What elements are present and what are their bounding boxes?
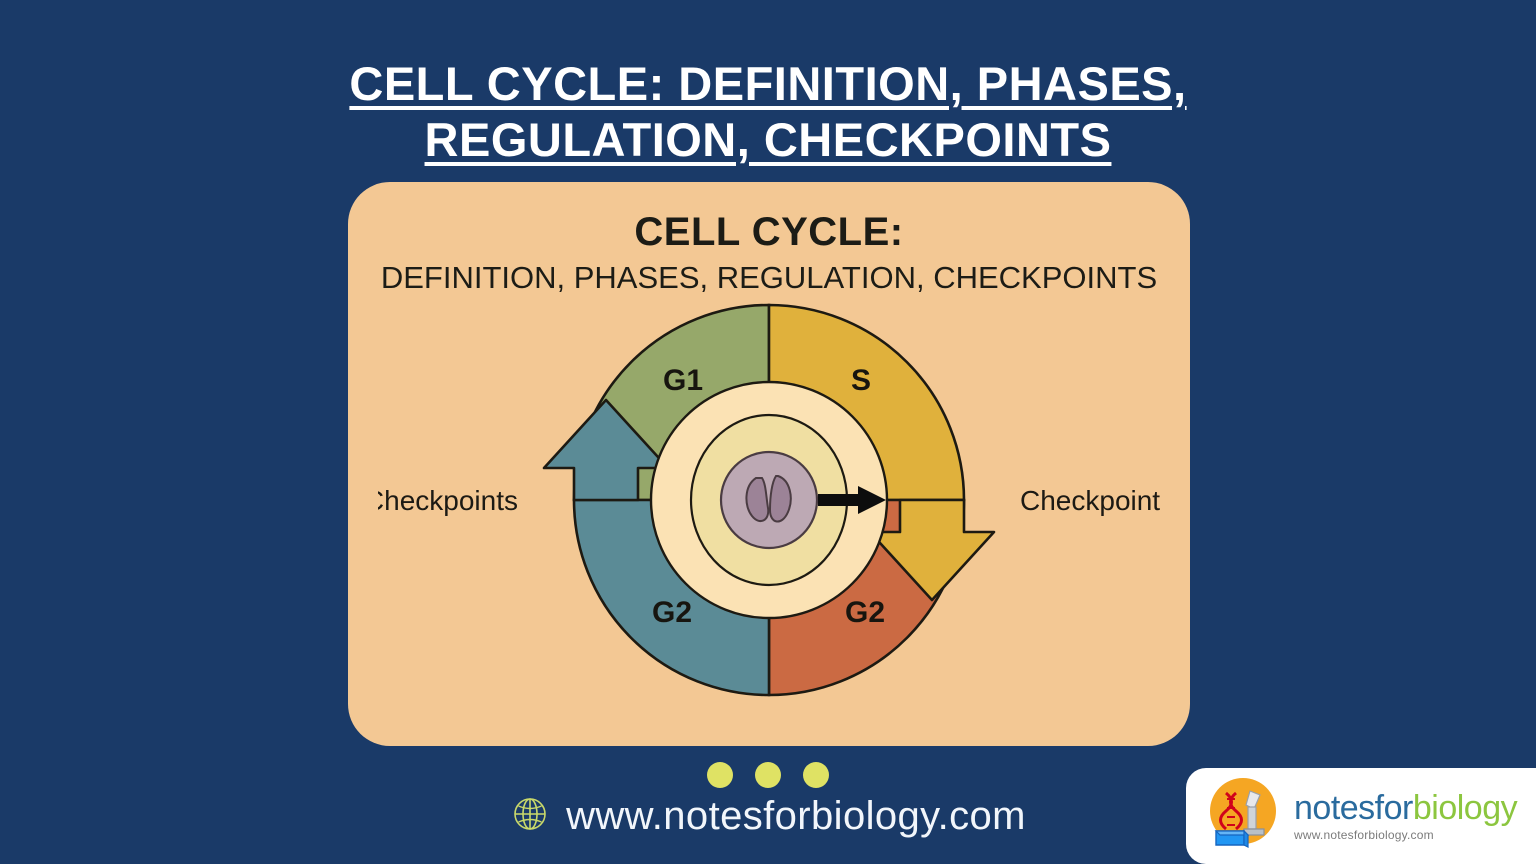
card-heading-line-2: DEFINITION, PHASES, REGULATION, CHECKPOI… [348, 259, 1190, 298]
footer-dot [803, 762, 829, 788]
footer-dot [755, 762, 781, 788]
logo-word-primary: notesfor [1294, 789, 1413, 827]
logo-subtitle: www.notesforbiology.com [1294, 829, 1517, 841]
logo-badge[interactable]: notesforbiology www.notesforbiology.com [1186, 768, 1536, 864]
chromosome-right [770, 476, 791, 522]
segment-label-s: S [851, 364, 871, 397]
logo-word-secondary: biology [1413, 789, 1517, 827]
logo-wordmark: notesforbiology [1294, 791, 1517, 825]
content-card: CELL CYCLE: DEFINITION, PHASES, REGULATI… [348, 182, 1190, 746]
segment-label-g1: G1 [663, 364, 703, 397]
card-heading: CELL CYCLE: DEFINITION, PHASES, REGULATI… [348, 208, 1190, 298]
checkpoint-label-right: Checkpoints [1020, 485, 1160, 516]
globe-icon [510, 794, 550, 839]
checkpoint-label-left: Checkpoints [378, 485, 518, 516]
page-title-line-2: REGULATION, CHECKPOINTS [425, 112, 1112, 168]
microscope-book-dna-icon [1204, 775, 1282, 858]
page-title: CELL CYCLE: DEFINITION, PHASES, REGULATI… [0, 56, 1536, 168]
segment-label-g2-right: G2 [845, 596, 885, 629]
page-title-line-1: CELL CYCLE: DEFINITION, PHASES, [349, 56, 1186, 112]
segment-label-g2-left: G2 [652, 596, 692, 629]
logo-wordmark-wrap: notesforbiology www.notesforbiology.com [1294, 791, 1517, 841]
footer-url-text[interactable]: www.notesforbiology.com [566, 794, 1026, 839]
cell-cycle-diagram: G1 S G2 G2 Checkpoints Checkpoints [378, 300, 1160, 720]
footer-dot [707, 762, 733, 788]
cell-nucleus [721, 452, 817, 548]
card-heading-line-1: CELL CYCLE: [348, 208, 1190, 257]
